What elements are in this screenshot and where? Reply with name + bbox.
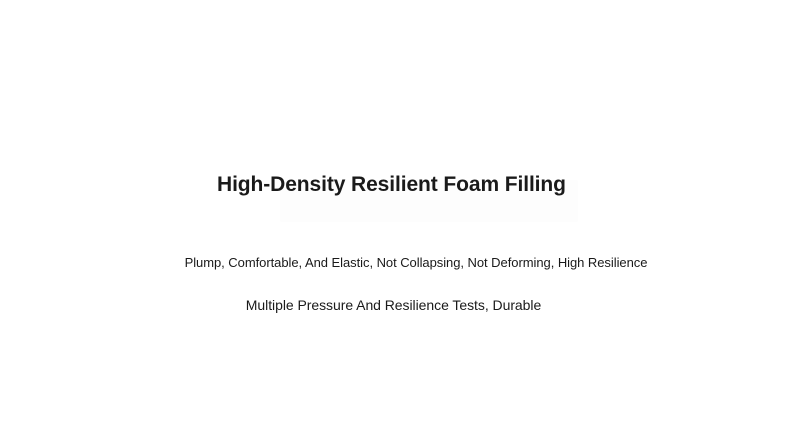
headline-text: High-Density Resilient Foam Filling	[217, 172, 637, 198]
product-feature-banner: High-Density Resilient Foam Filling Plum…	[0, 0, 790, 435]
subtitle-text: Plump, Comfortable, And Elastic, Not Col…	[0, 254, 790, 272]
tagline-text: Multiple Pressure And Resilience Tests, …	[0, 296, 787, 315]
